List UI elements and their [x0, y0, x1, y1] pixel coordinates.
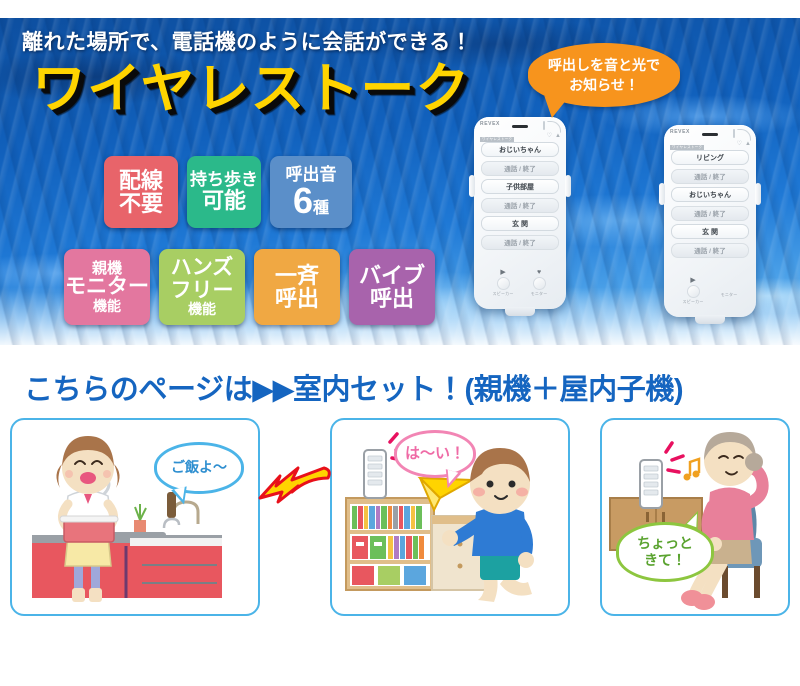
kitchen-speech-text: ご飯よ〜 — [171, 459, 227, 477]
device2-stand-foot — [695, 315, 725, 324]
device-speaker-slot — [512, 125, 528, 128]
device2-status-icons: ♡ ▲ — [737, 140, 751, 147]
bell-icon: ♡ — [737, 140, 742, 147]
hero-tagline: 離れた場所で、電話機のように会話ができる！ — [22, 26, 472, 56]
monitor-caption: モニター — [531, 291, 548, 297]
device-side-tab-right — [565, 175, 571, 197]
badge-vibration-call-line2: 呼出 — [370, 287, 414, 310]
badge-no-wiring-line1: 配線 — [119, 169, 163, 192]
device-sub-label: ワイヤレストーク — [480, 137, 514, 142]
badge-vibration-call-line1: バイブ — [359, 264, 425, 287]
device2-top-panel: REVEX ワイヤレストーク ♡ ▲ — [664, 125, 756, 149]
device-top-panel: REVEX ワイヤレストーク ♡ ▲ — [474, 117, 566, 141]
badge-parent-monitor-line2: モニター — [65, 276, 149, 298]
device-speaker-control[interactable]: ▶ スピーカー — [493, 269, 514, 297]
badge-hands-free: ハンズ フリー 機能 — [159, 249, 245, 325]
device2-button-talk-2[interactable]: 通話 / 終了 — [671, 206, 749, 221]
monitor-knob[interactable] — [533, 277, 546, 290]
speaker-knob[interactable] — [687, 285, 700, 298]
notification-callout-bubble: 呼出しを音と光で お知らせ！ — [528, 43, 680, 107]
device-stand-foot — [505, 307, 535, 316]
device-bottom-controls: ▶ スピーカー ♥ モニター — [474, 269, 566, 297]
badge-portable: 持ち歩き 可能 — [187, 156, 261, 228]
speaker-icon: ▶ — [690, 277, 695, 284]
device-led-bar-icon — [543, 121, 545, 130]
grandmother-speech-line1: ちょっと — [637, 535, 693, 553]
callout-line-2: お知らせ！ — [569, 75, 639, 95]
device-side-tab-left — [469, 175, 475, 197]
device2-button-talk-1[interactable]: 通話 / 終了 — [671, 169, 749, 184]
device-indoor-child-unit: REVEX ワイヤレストーク ♡ ▲ リビング 通話 / 終了 おじいちゃん 通… — [664, 125, 756, 317]
device2-monitor-control[interactable]: モニター — [721, 277, 738, 305]
speaker-caption: スピーカー — [683, 299, 704, 305]
device-button-talk-1[interactable]: 通話 / 終了 — [481, 161, 559, 176]
bell-icon: ♡ — [547, 132, 552, 139]
callout-tail — [540, 96, 566, 120]
page-title: ワイヤレストーク — [32, 62, 470, 116]
badge-no-wiring: 配線 不要 — [104, 156, 178, 228]
boy-speech-bubble: は〜い！ — [394, 430, 476, 478]
banner-prefix: こちらのページは — [24, 374, 252, 406]
feature-badges-row-2: 親機 モニター 機能 ハンズ フリー 機能 一斉 呼出 バイブ 呼出 — [64, 249, 435, 325]
badge-broadcast-call-line1: 一斉 — [275, 264, 319, 287]
lightning-arrow-icon — [258, 452, 338, 512]
badge-hands-free-line3: 機能 — [188, 302, 216, 317]
device2-sub-label: ワイヤレストーク — [670, 145, 704, 150]
device2-side-tab-left — [659, 183, 665, 205]
monitor-caption: モニター — [721, 292, 738, 298]
badge-broadcast-call: 一斉 呼出 — [254, 249, 340, 325]
device-button-name-3[interactable]: 玄 関 — [481, 216, 559, 231]
banner-suffix: 室内セット！(親機＋屋内子機) — [293, 374, 683, 406]
badge-vibration-call: バイブ 呼出 — [349, 249, 435, 325]
device2-bottom-controls: ▶ スピーカー モニター — [664, 277, 756, 305]
device2-side-tab-right — [755, 183, 761, 205]
device-button-talk-3[interactable]: 通話 / 終了 — [481, 235, 559, 250]
speaker-knob[interactable] — [497, 277, 510, 290]
badge-parent-monitor: 親機 モニター 機能 — [64, 249, 150, 325]
device-button-name-2[interactable]: 子供部屋 — [481, 179, 559, 194]
device2-led-bar-icon — [733, 129, 735, 138]
device2-button-name-3[interactable]: 玄 関 — [671, 224, 749, 239]
device2-speaker-slot — [702, 133, 718, 136]
badge-no-wiring-line2: 不要 — [119, 192, 163, 215]
device-button-talk-2[interactable]: 通話 / 終了 — [481, 198, 559, 213]
badge-ringtones-count-wrap: 6種 — [293, 184, 329, 218]
badge-parent-monitor-line3: 機能 — [93, 299, 121, 314]
badge-hands-free-line1: ハンズ — [171, 257, 234, 279]
device2-button-name-2[interactable]: おじいちゃん — [671, 187, 749, 202]
grandmother-speech-bubble: ちょっと きて！ — [616, 522, 714, 582]
badge-portable-line1: 持ち歩き — [190, 171, 258, 189]
feature-badges-row-1: 配線 不要 持ち歩き 可能 呼出音 6種 — [104, 156, 352, 228]
device-monitor-control[interactable]: ♥ モニター — [531, 269, 548, 297]
callout-line-1: 呼出しを音と光で — [548, 55, 660, 75]
panel-kitchen-mother: ご飯よ〜 — [10, 418, 260, 616]
badge-portable-line2: 可能 — [202, 189, 246, 212]
speaker-caption: スピーカー — [493, 291, 514, 297]
device2-button-list: リビング 通話 / 終了 おじいちゃん 通話 / 終了 玄 関 通話 / 終了 — [664, 149, 756, 258]
badge-broadcast-call-line2: 呼出 — [275, 287, 319, 310]
device-button-list: おじいちゃん 通話 / 終了 子供部屋 通話 / 終了 玄 関 通話 / 終了 — [474, 141, 566, 250]
panel-child-room-boy: は〜い！ — [330, 418, 570, 616]
badge-hands-free-line2: フリー — [171, 280, 234, 302]
monitor-icon: ♥ — [537, 269, 541, 276]
badge-parent-monitor-line1: 親機 — [92, 261, 122, 277]
badge-ringtones-count: 6 — [293, 180, 313, 221]
section-banner: こちらのページは▶▶室内セット！(親機＋屋内子機) — [24, 366, 683, 408]
device2-button-talk-3[interactable]: 通話 / 終了 — [671, 243, 749, 258]
device-status-icons: ♡ ▲ — [547, 132, 561, 139]
device2-speaker-control[interactable]: ▶ スピーカー — [683, 277, 704, 305]
device-parent-unit: REVEX ワイヤレストーク ♡ ▲ おじいちゃん 通話 / 終了 子供部屋 通… — [474, 117, 566, 309]
badge-ringtones: 呼出音 6種 — [270, 156, 352, 228]
banner-arrows-icon: ▶▶ — [252, 374, 293, 406]
boy-speech-text: は〜い！ — [405, 445, 465, 464]
kitchen-speech-bubble: ご飯よ〜 — [154, 442, 244, 494]
antenna-icon: ▲ — [555, 133, 561, 139]
grandmother-speech-line2: きて！ — [644, 552, 686, 570]
speaker-icon: ▶ — [500, 269, 505, 276]
badge-ringtones-unit: 種 — [313, 200, 329, 217]
antenna-icon: ▲ — [745, 141, 751, 147]
panel-grandmother-chair: ちょっと きて！ — [600, 418, 790, 616]
